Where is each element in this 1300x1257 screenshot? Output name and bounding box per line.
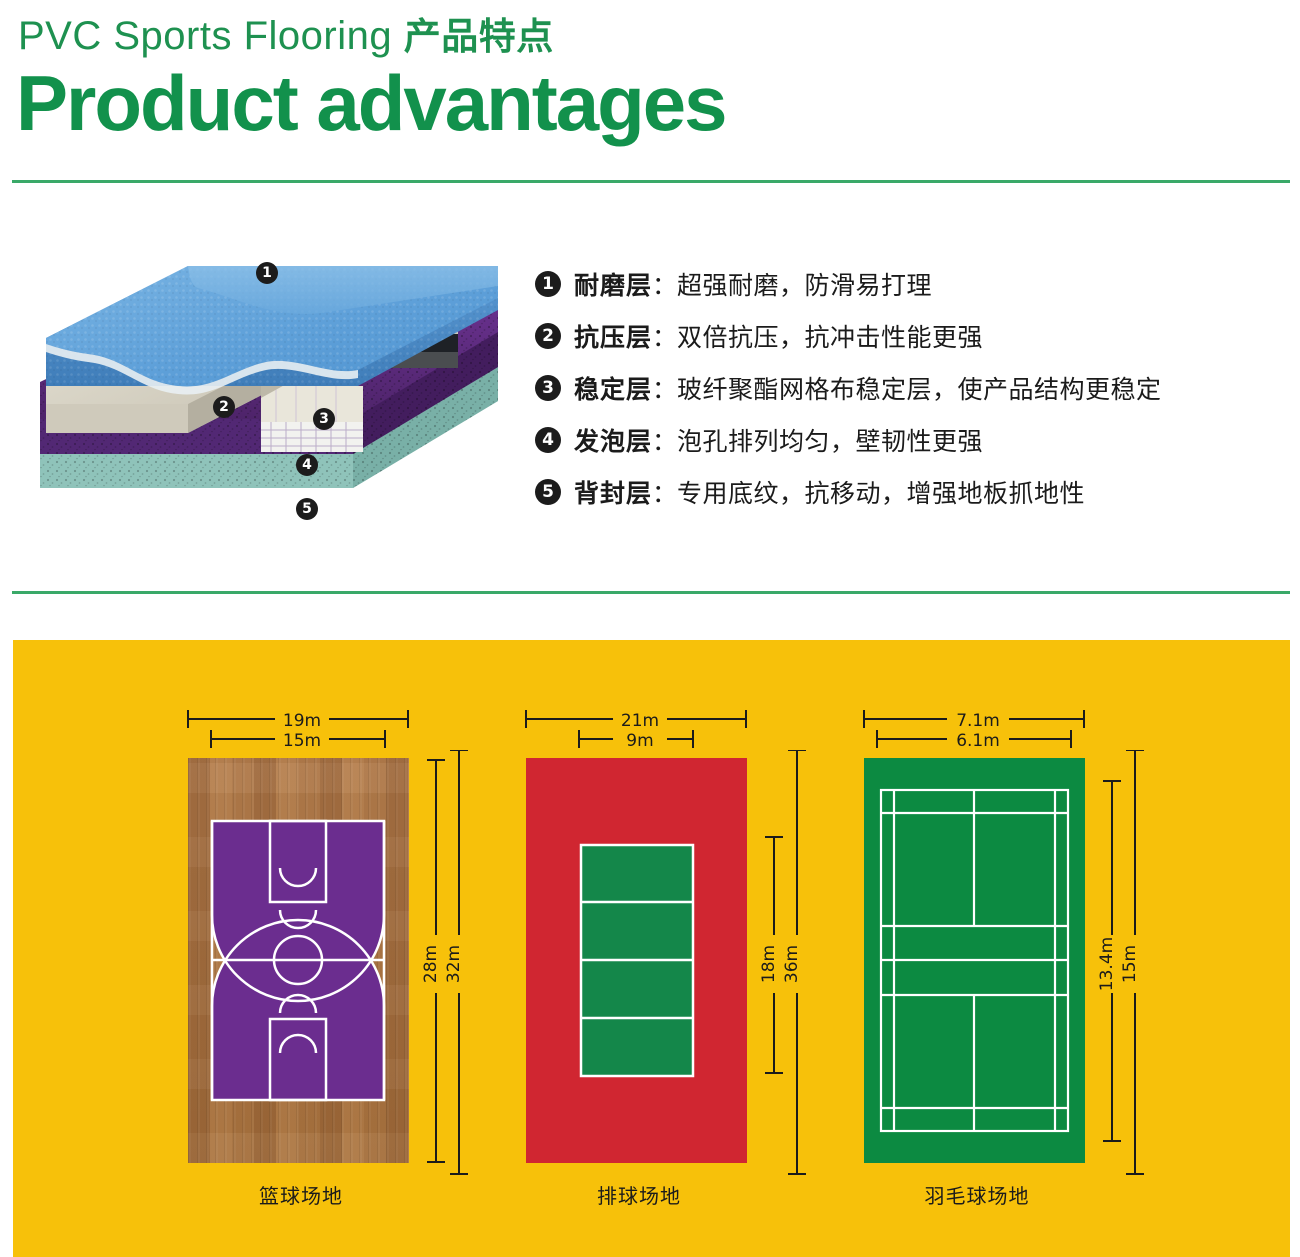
volleyball-right-dimensions: 18m 36m [751,750,811,1175]
bullet-number-4: 4 [535,427,561,453]
volleyball-outer-length-label: 36m [782,945,802,983]
layer-title-5: 背封层 [574,474,652,510]
bullet-number-1: 1 [535,271,561,297]
bullet-number-2: 2 [535,323,561,349]
callout-badge-4: 4 [296,454,318,476]
badminton-top-dimensions: 7.1m 6.1m [839,700,1139,754]
volleyball-outer-width-label: 21m [621,711,659,731]
layer-title-3: 稳定层 [574,370,652,406]
header-kicker-cn: 产品特点 [404,15,554,58]
volleyball-court-surface [526,758,747,1163]
badminton-inner-length-label: 13.4m [1097,937,1117,991]
court-badminton: 7.1m 6.1m [839,640,1219,1257]
volleyball-top-dimensions: 21m 9m [501,700,801,754]
badminton-outer-width-label: 7.1m [956,711,1000,731]
callout-badge-2: 2 [213,396,235,418]
basketball-outer-length-label: 32m [444,945,464,983]
basketball-outer-width-label: 19m [283,711,321,731]
layer-title-1: 耐磨层 [574,266,652,302]
callout-badge-1: 1 [256,262,278,284]
list-item: 5 背封层 ： 专用底纹，抗移动，增强地板抓地性 [535,466,1275,518]
volleyball-court-label: 排球场地 [489,1180,789,1209]
pvc-layer-structure-diagram: 1 2 3 4 5 [28,226,508,536]
badminton-outer-length-label: 15m [1120,945,1140,983]
layer-separator-1: ： [652,266,677,302]
layer-separator-3: ： [652,370,677,406]
layer-desc-4: 泡孔排列均匀，壁韧性更强 [677,422,983,458]
layer-separator-4: ： [652,422,677,458]
basketball-court-markings [188,758,409,1163]
badminton-inner-width-label: 6.1m [956,731,1000,751]
list-item: 3 稳定层 ： 玻纤聚酯网格布稳定层，使产品结构更稳定 [535,362,1275,414]
basketball-court-surface [188,758,409,1163]
courts-panel: 19m 15m [13,640,1290,1257]
badminton-court-label: 羽毛球场地 [827,1180,1127,1209]
list-item: 1 耐磨层 ： 超强耐磨，防滑易打理 [535,258,1275,310]
badminton-court-surface [864,758,1085,1163]
court-volleyball: 21m 9m [501,640,881,1257]
layer-separator-5: ： [652,474,677,510]
list-item: 2 抗压层 ： 双倍抗压，抗冲击性能更强 [535,310,1275,362]
layer-description-list: 1 耐磨层 ： 超强耐磨，防滑易打理 2 抗压层 ： 双倍抗压，抗冲击性能更强 … [535,258,1275,518]
bullet-number-3: 3 [535,375,561,401]
basketball-top-dimensions: 19m 15m [163,700,463,754]
basketball-inner-length-label: 28m [421,945,441,983]
page-title: Product advantages [16,62,726,144]
basketball-inner-width-label: 15m [283,731,321,751]
basketball-court-label: 篮球场地 [151,1180,451,1209]
volleyball-inner-width-label: 9m [626,731,653,751]
basketball-right-dimensions: 28m 32m [413,750,473,1175]
layer-desc-3: 玻纤聚酯网格布稳定层，使产品结构更稳定 [677,370,1162,406]
header-kicker: PVC Sports Flooring 产品特点 [18,14,554,59]
structure-section: 1 2 3 4 5 1 耐磨层 ： 超强耐磨，防滑易打理 2 抗压层 ： 双倍抗… [0,196,1300,586]
court-basketball: 19m 15m [163,640,543,1257]
layer-title-2: 抗压层 [574,318,652,354]
callout-badge-3: 3 [313,408,335,430]
layer-desc-5: 专用底纹，抗移动，增强地板抓地性 [677,474,1085,510]
divider-bottom [12,591,1290,594]
badminton-court-markings [864,758,1085,1163]
layer-separator-2: ： [652,318,677,354]
layer-title-4: 发泡层 [574,422,652,458]
badminton-right-dimensions: 13.4m 15m [1089,750,1149,1175]
list-item: 4 发泡层 ： 泡孔排列均匀，壁韧性更强 [535,414,1275,466]
volleyball-court-markings [526,758,747,1163]
layer-desc-2: 双倍抗压，抗冲击性能更强 [677,318,983,354]
bullet-number-5: 5 [535,479,561,505]
page-header: PVC Sports Flooring 产品特点 Product advanta… [0,0,1300,178]
divider-top [12,180,1290,183]
header-kicker-en: PVC Sports Flooring [18,14,392,58]
volleyball-inner-length-label: 18m [759,945,779,983]
callout-badge-5: 5 [296,498,318,520]
layer-desc-1: 超强耐磨，防滑易打理 [677,266,932,302]
